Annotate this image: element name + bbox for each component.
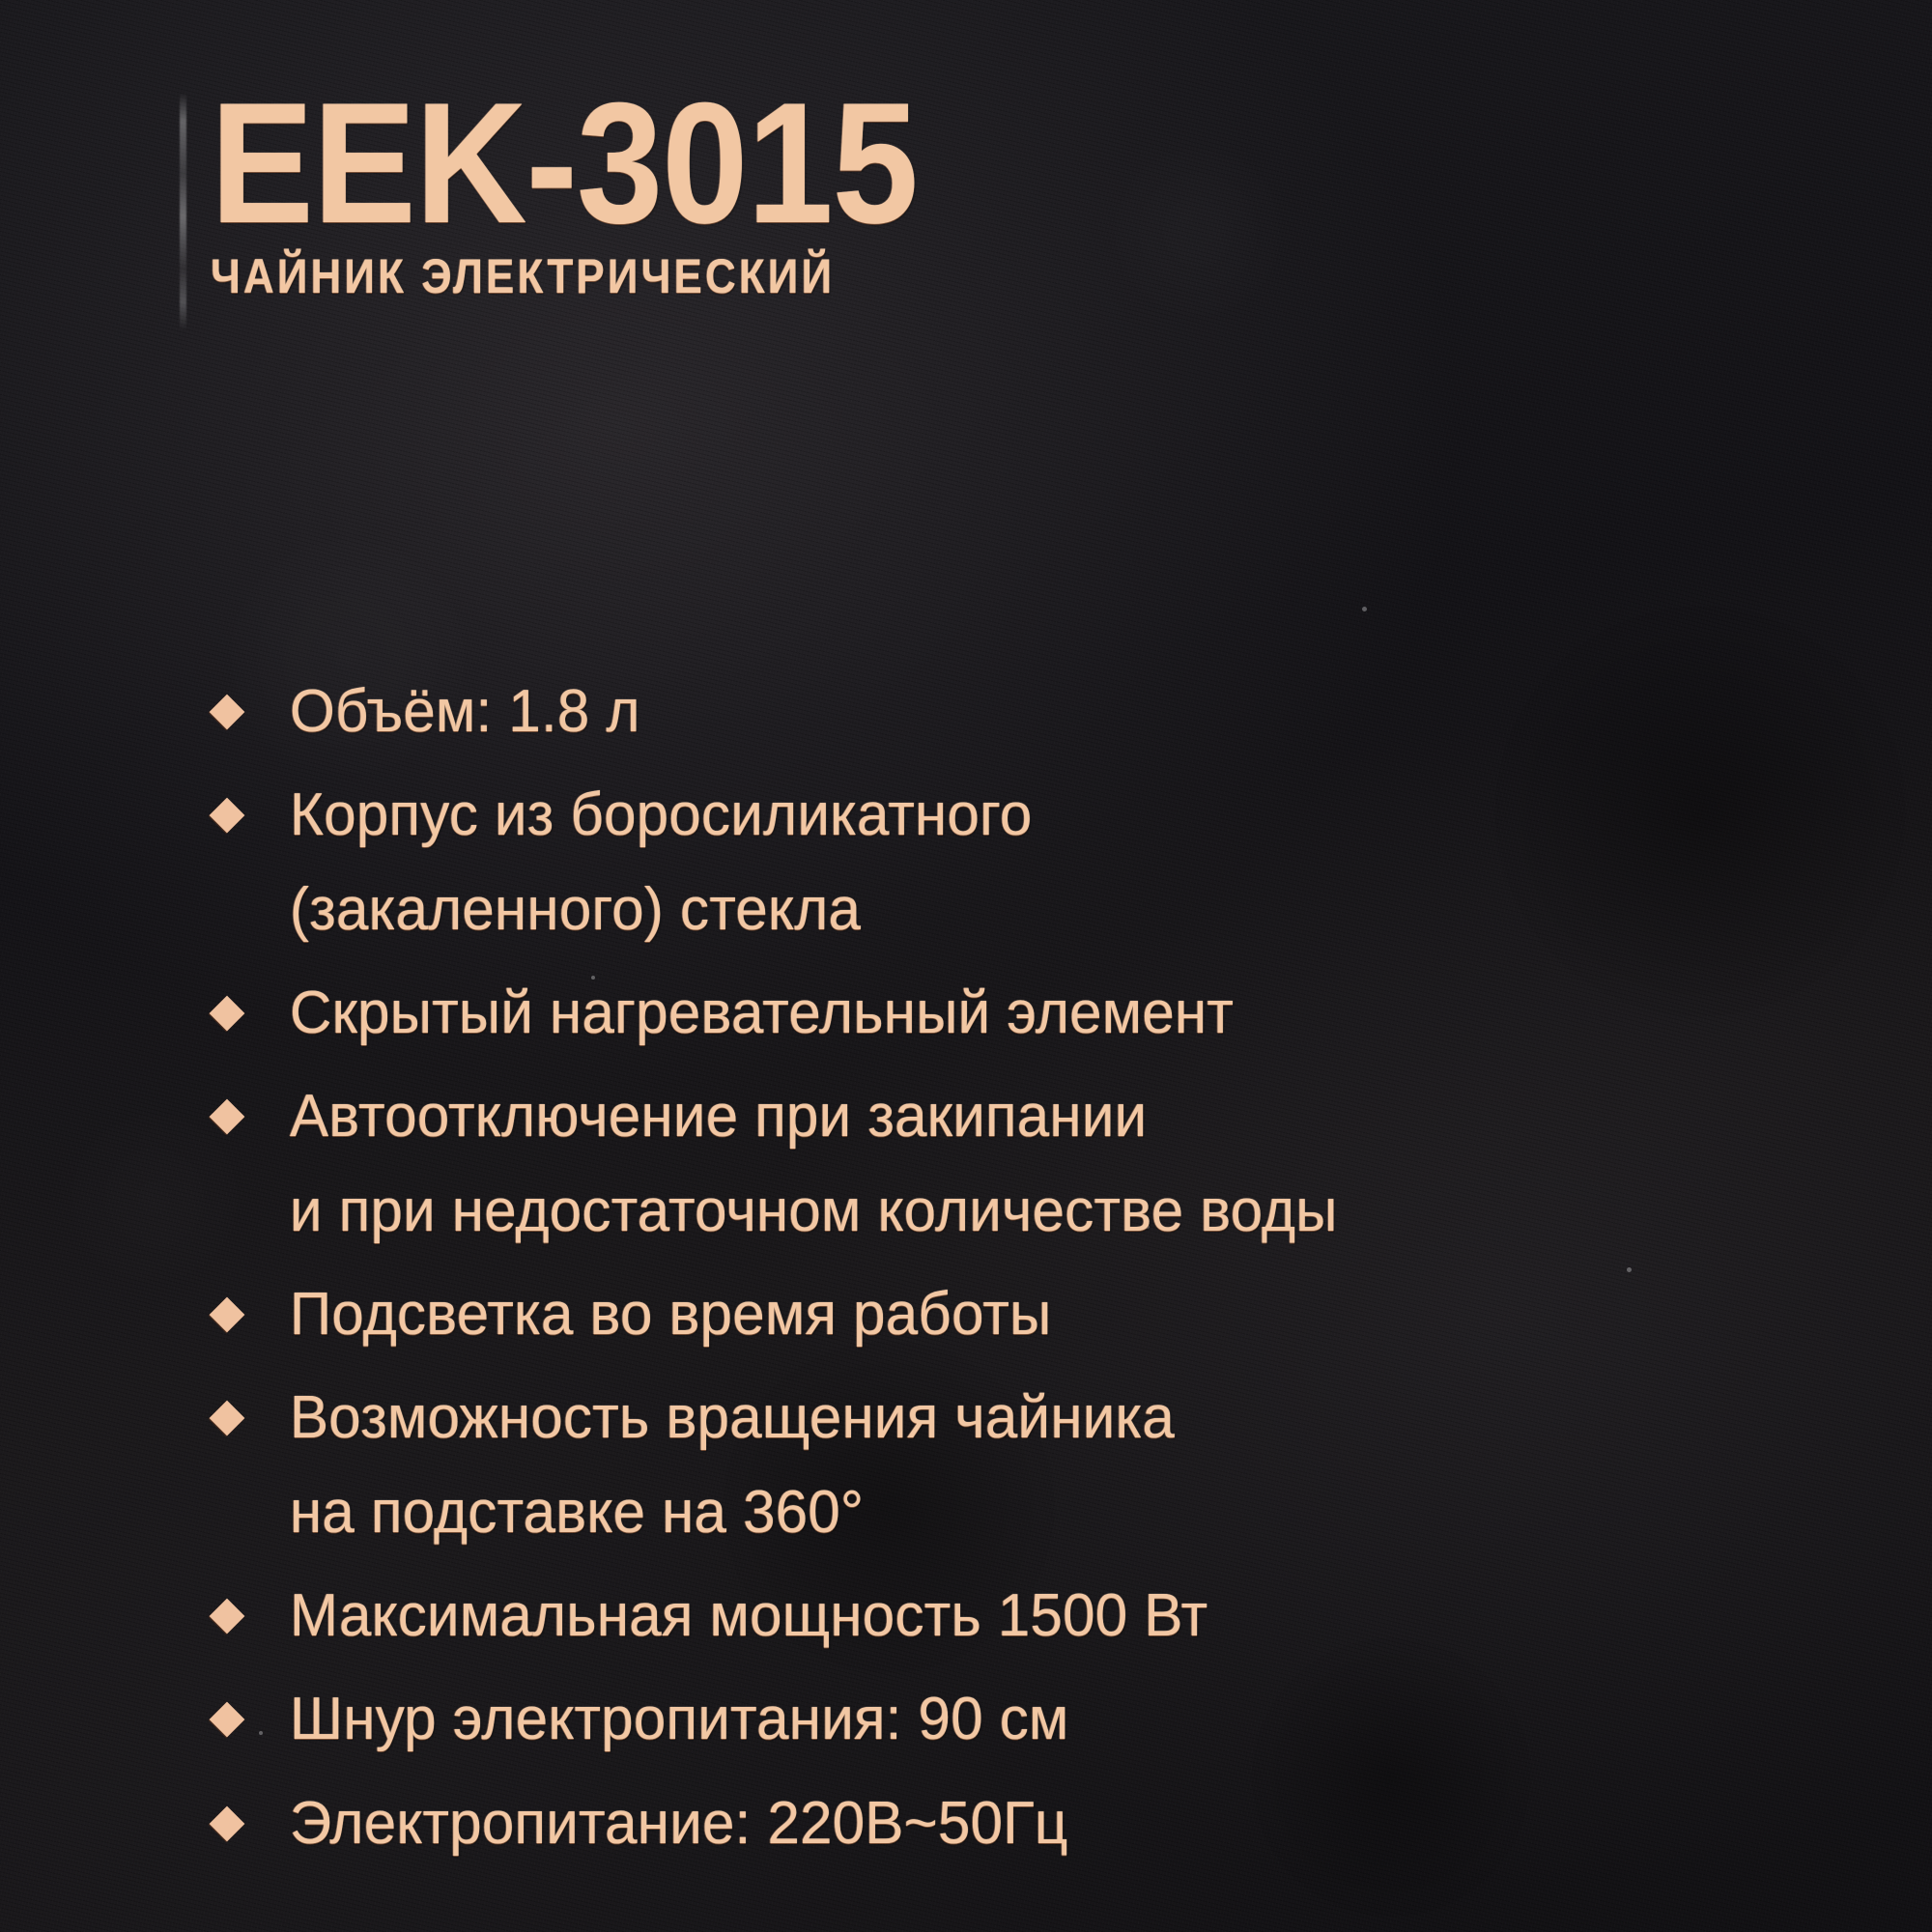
product-category-subtitle: ЧАЙНИК ЭЛЕКТРИЧЕСКИЙ xyxy=(211,252,902,300)
feature-text: Скрытый нагревательный элемент xyxy=(214,966,1857,1060)
feature-item: Автоотключение при закипаниии при недост… xyxy=(214,1069,1857,1258)
feature-line: (закаленного) стекла xyxy=(290,863,1809,956)
surface-scuff-mark xyxy=(180,93,186,330)
feature-text: Корпус из боросиликатного(закаленного) с… xyxy=(214,768,1857,956)
feature-line: Подсветка во время работы xyxy=(290,1267,1809,1361)
feature-line: Корпус из боросиликатного xyxy=(290,768,1809,862)
feature-item: Подсветка во время работы xyxy=(214,1267,1857,1361)
feature-item: Электропитание: 220В~50Гц xyxy=(214,1776,1857,1870)
feature-item: Шнур электропитания: 90 см xyxy=(214,1672,1857,1766)
feature-line: Максимальная мощность 1500 Вт xyxy=(290,1569,1809,1662)
feature-text: Возможность вращения чайникана подставке… xyxy=(214,1371,1857,1559)
feature-list: Объём: 1.8 лКорпус из боросиликатного(за… xyxy=(214,665,1857,1880)
feature-line: на подставке на 360° xyxy=(290,1465,1809,1559)
feature-item: Объём: 1.8 л xyxy=(214,665,1857,758)
feature-line: Скрытый нагревательный элемент xyxy=(290,966,1809,1060)
feature-item: Корпус из боросиликатного(закаленного) с… xyxy=(214,768,1857,956)
feature-line: Электропитание: 220В~50Гц xyxy=(290,1776,1809,1870)
feature-line: Возможность вращения чайника xyxy=(290,1371,1809,1464)
feature-item: Максимальная мощность 1500 Вт xyxy=(214,1569,1857,1662)
feature-text: Объём: 1.8 л xyxy=(214,665,1857,758)
feature-line: и при недостаточном количестве воды xyxy=(290,1164,1809,1258)
feature-item: Возможность вращения чайникана подставке… xyxy=(214,1371,1857,1559)
feature-text: Автоотключение при закипаниии при недост… xyxy=(214,1069,1857,1258)
feature-text: Максимальная мощность 1500 Вт xyxy=(214,1569,1857,1662)
feature-text: Шнур электропитания: 90 см xyxy=(214,1672,1857,1766)
feature-line: Автоотключение при закипании xyxy=(290,1069,1809,1163)
feature-text: Подсветка во время работы xyxy=(214,1267,1857,1361)
feature-line: Шнур электропитания: 90 см xyxy=(290,1672,1809,1766)
product-model-title: EEK-3015 xyxy=(211,89,918,237)
feature-item: Скрытый нагревательный элемент xyxy=(214,966,1857,1060)
feature-line: Объём: 1.8 л xyxy=(290,665,1809,758)
dust-speck xyxy=(1362,607,1367,611)
feature-text: Электропитание: 220В~50Гц xyxy=(214,1776,1857,1870)
product-header: EEK-3015 ЧАЙНИК ЭЛЕКТРИЧЕСКИЙ xyxy=(211,89,996,300)
product-packaging-panel: EEK-3015 ЧАЙНИК ЭЛЕКТРИЧЕСКИЙ Объём: 1.8… xyxy=(0,0,1932,1932)
